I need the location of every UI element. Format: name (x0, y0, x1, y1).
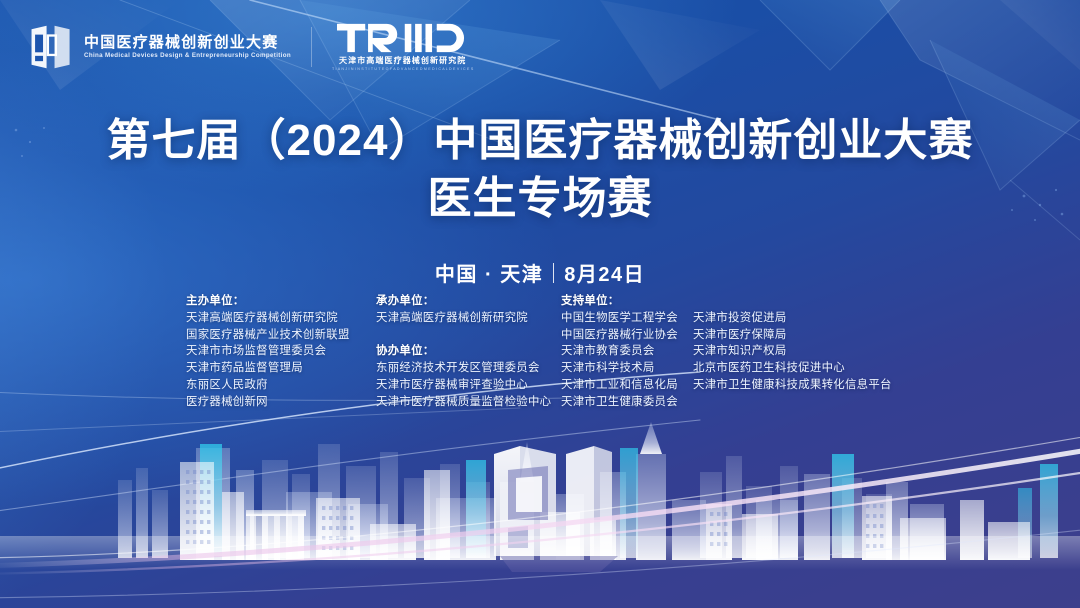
event-date: 8月24日 (564, 258, 645, 287)
supporter-column-2: 天津市投资促进局 天津市医疗保障局 天津市知识产权局 北京市医药卫生科技促进中心… (693, 293, 892, 394)
host-item: 天津市市场监督管理委员会 (186, 343, 376, 360)
event-location: 中国 · 天津 (435, 258, 543, 287)
supporter-item: 天津市卫生健康科技成果转化信息平台 (693, 377, 892, 394)
supporter-item: 天津市教育委员会 (561, 343, 693, 360)
organizer-block: 主办单位： 天津高端医疗器械创新研究院 国家医疗器械产业技术创新联盟 天津市市场… (186, 293, 946, 411)
institute-name-en: T I A N J I N I N S T I T U T E O F A D … (332, 68, 473, 72)
supporter-item: 中国生物医学工程学会 (561, 310, 693, 327)
city-skyline-silhouette (0, 408, 1080, 608)
supporter-heading: 支持单位： (561, 293, 693, 310)
undertaker-heading: 承办单位： (376, 293, 561, 310)
competition-name-en: China Medical Devices Design & Entrepren… (84, 53, 291, 59)
title-line-1: 第七届（2024）中国医疗器械创新创业大赛 (0, 112, 1080, 170)
event-dateline: 中国 · 天津 8月24日 (0, 258, 1080, 287)
supporter-item: 天津市工业和信息化局 (561, 377, 693, 394)
supporter-item: 天津市投资促进局 (693, 310, 892, 327)
host-item: 天津市药品监督管理局 (186, 360, 376, 377)
page-title: 第七届（2024）中国医疗器械创新创业大赛 医生专场赛 (0, 112, 1080, 228)
coorganizer-item: 东丽经济技术开发区管理委员会 (376, 360, 561, 377)
supporter-item: 北京市医药卫生科技促进中心 (693, 360, 892, 377)
host-item: 天津高端医疗器械创新研究院 (186, 310, 376, 327)
institute-name-cn: 天津市高端医疗器械创新研究院 (339, 57, 466, 65)
poster-canvas: 中国医疗器械创新创业大赛 China Medical Devices Desig… (0, 0, 1080, 608)
supporter-item: 天津市医疗保障局 (693, 327, 892, 344)
supporter-column-1: 支持单位： 中国生物医学工程学会 中国医疗器械行业协会 天津市教育委员会 天津市… (561, 293, 693, 411)
host-heading: 主办单位： (186, 293, 376, 310)
host-item: 东丽区人民政府 (186, 377, 376, 394)
coorganizer-heading: 协办单位： (376, 343, 561, 360)
column-spacer (376, 327, 561, 344)
competition-name-cn: 中国医疗器械创新创业大赛 (84, 35, 291, 50)
gate-door-logo-icon (28, 24, 74, 70)
trimd-wordmark-icon (337, 22, 469, 54)
title-line-2: 医生专场赛 (0, 170, 1080, 228)
competition-logo-text: 中国医疗器械创新创业大赛 China Medical Devices Desig… (84, 35, 291, 59)
coorganizer-item: 天津市医疗器械审评查验中心 (376, 377, 561, 394)
host-item: 国家医疗器械产业技术创新联盟 (186, 327, 376, 344)
supporter-item: 天津市科学技术局 (561, 360, 693, 377)
host-column: 主办单位： 天津高端医疗器械创新研究院 国家医疗器械产业技术创新联盟 天津市市场… (186, 293, 376, 411)
undertaker-item: 天津高端医疗器械创新研究院 (376, 310, 561, 327)
supporter-item: 中国医疗器械行业协会 (561, 327, 693, 344)
competition-logo: 中国医疗器械创新创业大赛 China Medical Devices Desig… (28, 24, 291, 70)
header-logos: 中国医疗器械创新创业大赛 China Medical Devices Desig… (28, 22, 473, 72)
supporter-item: 天津市知识产权局 (693, 343, 892, 360)
undertaker-coorganizer-column: 承办单位： 天津高端医疗器械创新研究院 协办单位： 东丽经济技术开发区管理委员会… (376, 293, 561, 411)
supporter-column2-spacer (693, 293, 892, 310)
institute-logo: 天津市高端医疗器械创新研究院 T I A N J I N I N S T I T… (332, 22, 473, 72)
logo-divider (311, 27, 312, 67)
dateline-separator (553, 263, 554, 283)
